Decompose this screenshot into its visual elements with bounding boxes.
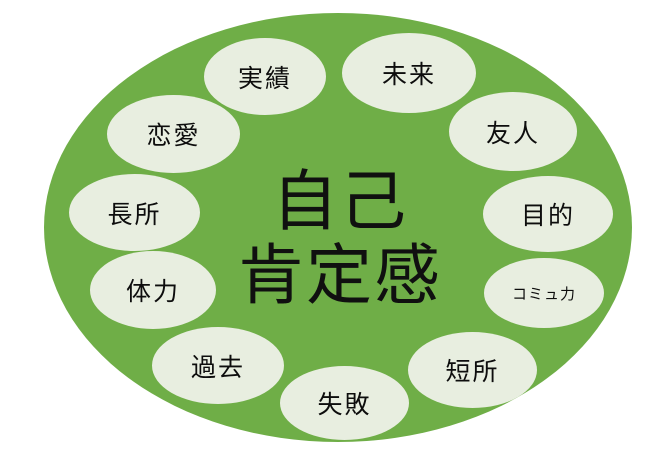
node-bubble-label: 過去 [191, 348, 245, 384]
node-bubble[interactable]: 目的 [483, 176, 613, 252]
node-bubble-label: 恋愛 [146, 116, 200, 152]
node-bubble-label: 長所 [107, 195, 161, 231]
node-bubble-label: 実績 [238, 59, 292, 95]
node-bubble[interactable]: 実績 [204, 38, 326, 115]
node-bubble[interactable]: 失敗 [280, 366, 409, 440]
node-bubble-label: 目的 [521, 196, 575, 232]
diagram-canvas: 実績未来友人目的コミュ力短所失敗過去体力長所恋愛 自己 肯定感 [0, 0, 659, 465]
node-bubble-label: コミュ力 [512, 283, 576, 304]
node-bubble[interactable]: 長所 [69, 174, 200, 251]
node-bubble[interactable]: 未来 [342, 33, 476, 113]
node-bubble-label: 未来 [382, 55, 436, 91]
node-bubble[interactable]: 短所 [408, 332, 537, 408]
node-bubble[interactable]: 体力 [90, 251, 216, 329]
node-bubble-label: 友人 [486, 114, 540, 150]
node-bubble-label: 短所 [445, 352, 499, 388]
node-bubble-label: 失敗 [317, 385, 371, 421]
node-bubble[interactable]: 恋愛 [107, 95, 240, 173]
node-bubble[interactable]: コミュ力 [484, 258, 604, 328]
node-bubble[interactable]: 友人 [449, 92, 577, 171]
node-bubble[interactable]: 過去 [152, 327, 284, 404]
node-bubble-label: 体力 [126, 272, 180, 308]
